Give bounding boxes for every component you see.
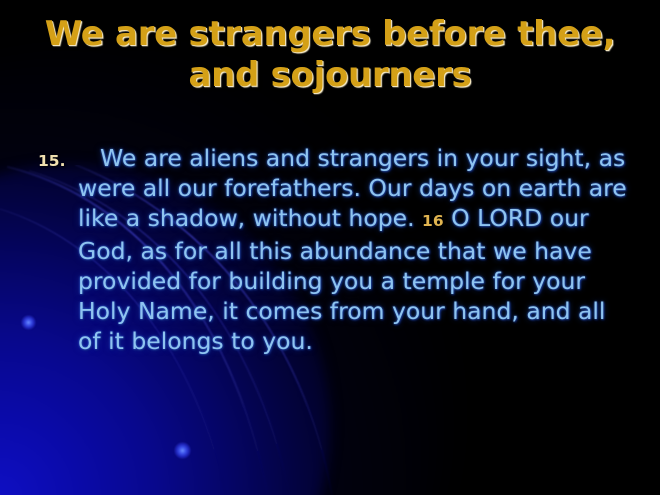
slide-content: We are strangers before thee, and sojour…: [0, 0, 660, 495]
scripture-paragraph: 15.We are aliens and strangers in your s…: [34, 143, 634, 356]
title-line-2: and sojourners: [30, 55, 630, 96]
slide-body: 15.We are aliens and strangers in your s…: [34, 119, 634, 379]
bullet-number: 15.: [38, 146, 65, 176]
presentation-slide: We are strangers before thee, and sojour…: [0, 0, 660, 495]
slide-title: We are strangers before thee, and sojour…: [30, 14, 630, 96]
verse-number: 16: [422, 212, 444, 230]
title-line-1: We are strangers before thee,: [30, 14, 630, 55]
